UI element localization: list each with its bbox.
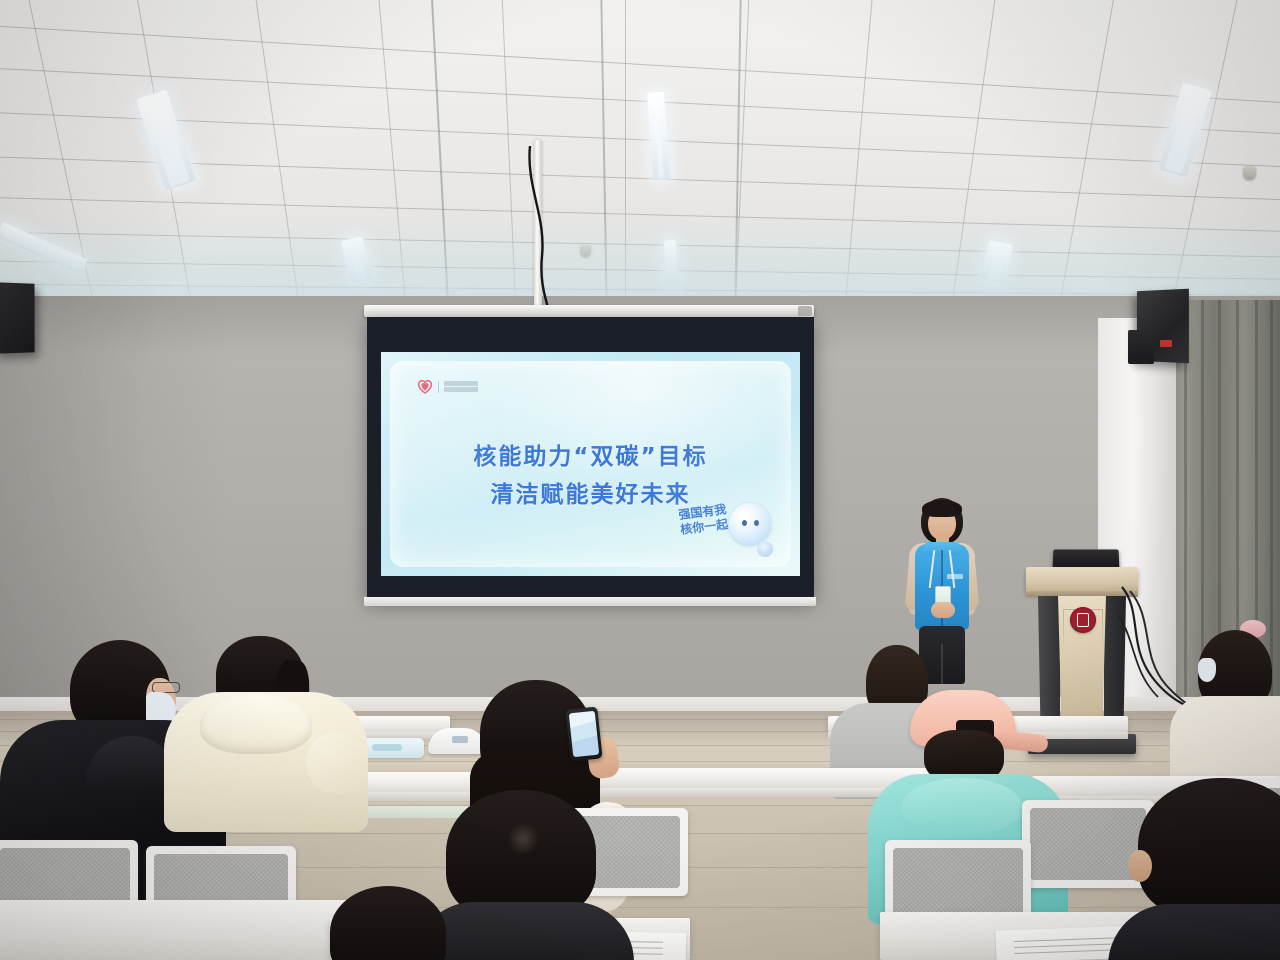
face-mask: [1198, 658, 1216, 682]
slide-mascot: 强国有我 核你一起: [673, 501, 773, 553]
slide-logo: [417, 379, 478, 394]
student-hair: [1138, 778, 1280, 918]
projector-cable: [524, 146, 560, 316]
logo-wordmark: [444, 381, 478, 392]
ceiling-light: [647, 92, 670, 181]
heart-icon: [417, 379, 433, 394]
mascot-eye: [742, 520, 747, 526]
phone-screen: [569, 711, 599, 757]
slide-card: 核能助力“双碳”目标 清洁赋能美好未来 强国有我 核你一起: [390, 361, 791, 567]
student-hood: [200, 694, 312, 754]
screen-bottom-bar: [364, 597, 816, 606]
emblem-character: [1078, 614, 1088, 626]
wall-speaker-left: [0, 282, 35, 354]
projected-slide: 核能助力“双碳”目标 清洁赋能美好未来 强国有我 核你一起: [381, 352, 800, 576]
classroom-photo: 核能助力“双碳”目标 清洁赋能美好未来 强国有我 核你一起: [0, 0, 1280, 960]
mascot-eye: [754, 520, 759, 526]
speaker-brand-badge: [1160, 340, 1172, 347]
student-hair: [330, 886, 446, 960]
presenter-vest-logo: [947, 574, 963, 579]
student-shoulders: [1108, 904, 1280, 960]
logo-divider: [438, 381, 439, 393]
student-hood: [902, 778, 1022, 834]
presenter-fringe: [922, 500, 962, 517]
mascot-arm: [757, 541, 773, 557]
screen-roller-cap: [798, 306, 812, 316]
ceiling-glow: [0, 210, 1280, 300]
student-cream-jacket-mask: [1192, 618, 1280, 753]
university-emblem: [1070, 607, 1096, 633]
student-ear: [1128, 850, 1152, 882]
hair-crown-swirl: [506, 824, 540, 854]
tissue-pack-detail: [372, 744, 402, 751]
sprinkler-head: [1243, 166, 1256, 180]
student-hair: [446, 790, 596, 920]
student-cream-hoodie: [178, 636, 358, 826]
student-foreground-left-edge: [330, 886, 450, 960]
presenter-hands: [931, 602, 955, 618]
slide-title-line-1: 核能助力“双碳”目标: [390, 437, 791, 471]
mascot-character-icon: [729, 503, 771, 545]
mascot-slogan: 强国有我 核你一起: [671, 501, 737, 548]
ceiling-light: [136, 89, 196, 190]
student-foreground-right: [1118, 778, 1280, 960]
speaker-mount: [1128, 330, 1154, 364]
screen-roller-bar[interactable]: [364, 305, 814, 317]
